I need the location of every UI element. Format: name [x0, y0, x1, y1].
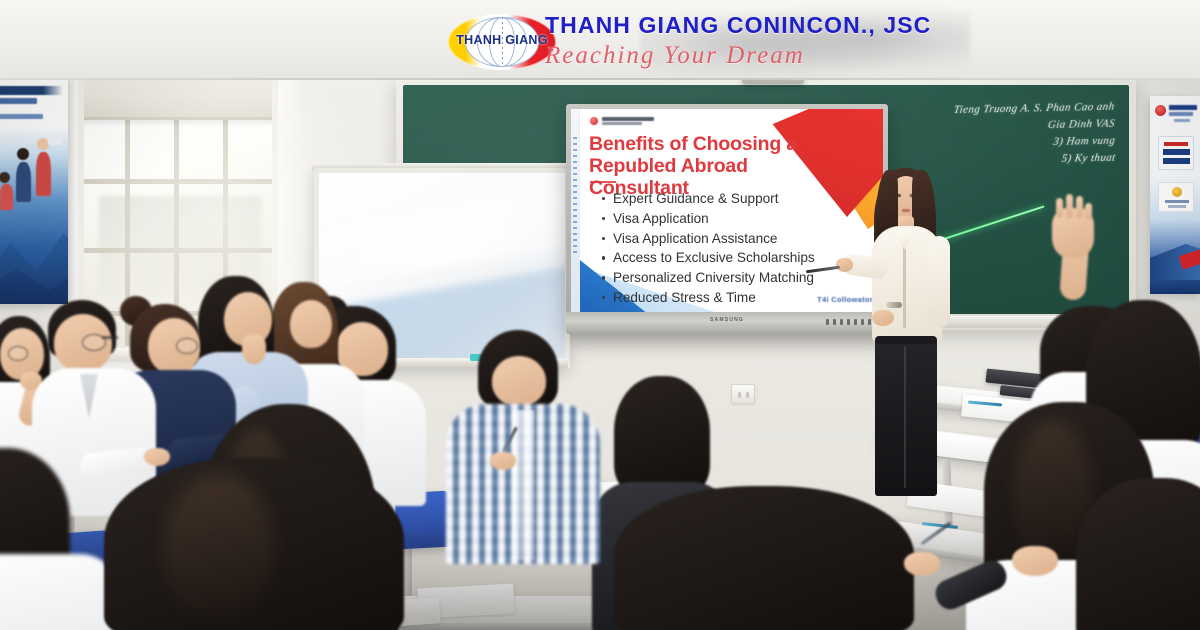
raised-hand: [1052, 208, 1094, 258]
company-logo: THANH GIANG: [448, 14, 556, 70]
student-hand: [1012, 546, 1058, 576]
student-foreground: [1076, 478, 1200, 630]
window-mullion: [84, 179, 272, 184]
student-hand: [904, 552, 940, 576]
glasses-icon: [176, 338, 198, 354]
student-hand: [242, 334, 266, 364]
presenter-watch: [886, 302, 902, 308]
presentation-slide: Benefits of Choosing a Republed Abroad C…: [571, 109, 883, 312]
poster-logo-icon: [1155, 105, 1166, 116]
header-banner: THANH GIANG THANH GIANG CONINCON., JSC R…: [0, 0, 1200, 80]
company-name: THANH GIANG CONINCON., JSC: [545, 12, 1105, 39]
display-bezel: SAMSUNG: [566, 312, 888, 334]
presenter-arm-right: [928, 236, 950, 328]
slide-title-rule: [590, 181, 616, 183]
presenter-hand-right: [872, 310, 894, 326]
window-mullion: [84, 248, 272, 253]
slide-bullet-list: Expert Guidance & Support Visa Applicati…: [601, 189, 863, 308]
chalkboard-handwriting: Tieng Truong A. S. Phan Cao anh Gia Dinh…: [884, 99, 1115, 172]
left-wall-poster: [0, 76, 68, 304]
classroom-scene: Tieng Truong A. S. Phan Cao anh Gia Dinh…: [0, 0, 1200, 630]
presenter-mouth: [902, 209, 910, 212]
banner-text-block: THANH GIANG CONINCON., JSC Reaching Your…: [545, 12, 1105, 70]
student-hair: [614, 376, 710, 496]
student-foreground: [104, 458, 404, 630]
student-hair: [614, 486, 914, 630]
company-tagline: Reaching Your Dream: [545, 42, 1105, 70]
presentation-display[interactable]: Benefits of Choosing a Republed Abroad C…: [566, 104, 888, 334]
display-screen[interactable]: Benefits of Choosing a Republed Abroad C…: [571, 109, 883, 312]
display-side-strip: [571, 109, 580, 312]
student-head: [492, 356, 546, 406]
student-hair: [1076, 478, 1200, 630]
slide-bullet: Visa Application: [601, 209, 863, 229]
slide-bullet: Expert Guidance & Support: [601, 189, 863, 209]
slide-bullet: Access to Exclusive Scholarships: [601, 248, 863, 268]
slide-bullet: Visa Application Assistance: [601, 229, 863, 249]
slide-logo-icon: [589, 116, 599, 126]
presenter-trousers: [875, 336, 937, 496]
power-outlet-icon: [731, 384, 755, 404]
company-logo-text: THANH GIANG: [448, 33, 556, 47]
student-hand: [490, 452, 516, 470]
slide-logo: [589, 116, 654, 126]
student: [452, 330, 592, 560]
presenter-hand-left: [836, 258, 853, 272]
slide-title-line-1: Benefits of Choosing a: [589, 133, 841, 155]
glasses-icon: [8, 346, 28, 361]
slide-bullet: Personalized Cniversity Matching: [601, 268, 863, 288]
student-foreground: [614, 486, 914, 630]
presenter-belt: [875, 336, 937, 344]
display-brand-label: SAMSUNG: [710, 317, 744, 323]
student-shirt: [0, 554, 120, 630]
